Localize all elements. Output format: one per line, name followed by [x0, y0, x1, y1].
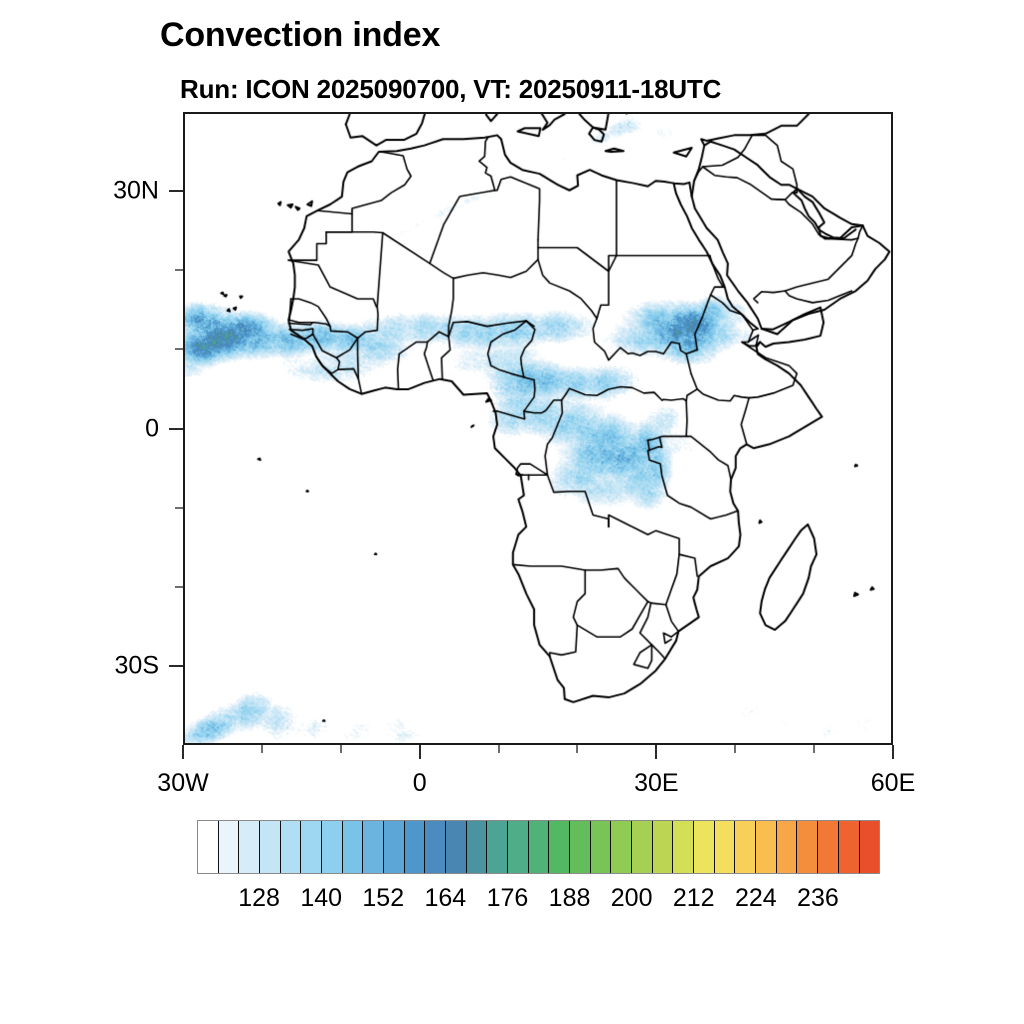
- x-axis-label-3: 60E: [871, 769, 915, 798]
- colorbar-cell-5: [301, 821, 322, 873]
- x-major-tick-1: [419, 745, 421, 759]
- colorbar-cell-4: [281, 821, 302, 873]
- y-axis-label-1: 0: [0, 414, 159, 443]
- colorbar-cell-16: [529, 821, 550, 873]
- page-title: Convection index: [160, 16, 440, 55]
- x-minor-tick-2: [498, 745, 500, 753]
- y-minor-tick-1: [175, 348, 183, 350]
- x-minor-tick-3: [576, 745, 578, 753]
- x-axis-label-0: 30W: [157, 769, 208, 798]
- y-axis-label-0: 30N: [0, 177, 159, 206]
- colorbar-cell-17: [549, 821, 570, 873]
- x-minor-tick-0: [261, 745, 263, 753]
- x-axis-label-2: 30E: [634, 769, 678, 798]
- y-axis-label-2: 30S: [0, 651, 159, 680]
- y-major-tick-1: [169, 428, 183, 430]
- x-major-tick-2: [655, 745, 657, 759]
- colorbar-cell-27: [756, 821, 777, 873]
- x-major-tick-0: [182, 745, 184, 759]
- colorbar-cell-13: [467, 821, 488, 873]
- colorbar-label-3: 164: [425, 884, 467, 913]
- colorbar-cell-22: [653, 821, 674, 873]
- colorbar-cell-20: [611, 821, 632, 873]
- colorbar-label-4: 176: [487, 884, 529, 913]
- colorbar-cell-1: [219, 821, 240, 873]
- figure-root: Convection index Run: ICON 2025090700, V…: [0, 0, 1024, 1024]
- colorbar-cell-10: [405, 821, 426, 873]
- colorbar-cell-28: [777, 821, 798, 873]
- colorbar-cell-2: [239, 821, 260, 873]
- colorbar-cell-19: [591, 821, 612, 873]
- colorbar-label-0: 128: [238, 884, 280, 913]
- colorbar-cell-15: [508, 821, 529, 873]
- colorbar-label-9: 236: [797, 884, 839, 913]
- y-minor-tick-0: [175, 269, 183, 271]
- y-major-tick-2: [169, 665, 183, 667]
- colorbar-label-1: 140: [300, 884, 342, 913]
- colorbar-cell-32: [860, 821, 880, 873]
- map-plot-area[interactable]: [183, 112, 893, 745]
- colorbar-label-6: 200: [611, 884, 653, 913]
- convection-index-heatmap: [185, 114, 891, 743]
- colorbar-cell-0: [198, 821, 219, 873]
- colorbar-cell-6: [322, 821, 343, 873]
- colorbar-label-5: 188: [549, 884, 591, 913]
- colorbar-label-2: 152: [362, 884, 404, 913]
- colorbar-cell-7: [343, 821, 364, 873]
- x-axis-label-1: 0: [413, 769, 427, 798]
- x-minor-tick-5: [813, 745, 815, 753]
- colorbar-cell-21: [632, 821, 653, 873]
- colorbar-cell-12: [446, 821, 467, 873]
- colorbar-cell-11: [425, 821, 446, 873]
- colorbar-cell-29: [797, 821, 818, 873]
- x-minor-tick-1: [340, 745, 342, 753]
- y-minor-tick-3: [175, 586, 183, 588]
- colorbar-cell-23: [673, 821, 694, 873]
- x-minor-tick-4: [734, 745, 736, 753]
- y-major-tick-0: [169, 190, 183, 192]
- colorbar-cell-24: [694, 821, 715, 873]
- colorbar-label-8: 224: [735, 884, 777, 913]
- colorbar-tick-labels: 128140152164176188200212224236: [197, 884, 880, 916]
- colorbar-cell-26: [735, 821, 756, 873]
- colorbar-cell-30: [818, 821, 839, 873]
- y-minor-tick-2: [175, 507, 183, 509]
- colorbar[interactable]: [197, 820, 880, 874]
- run-valid-time-subtitle: Run: ICON 2025090700, VT: 20250911-18UTC: [180, 74, 721, 105]
- colorbar-cell-9: [384, 821, 405, 873]
- colorbar-cell-3: [260, 821, 281, 873]
- colorbar-cell-25: [715, 821, 736, 873]
- colorbar-cell-18: [570, 821, 591, 873]
- colorbar-cell-14: [487, 821, 508, 873]
- colorbar-label-7: 212: [673, 884, 715, 913]
- x-major-tick-3: [892, 745, 894, 759]
- colorbar-cell-8: [363, 821, 384, 873]
- colorbar-cell-31: [839, 821, 860, 873]
